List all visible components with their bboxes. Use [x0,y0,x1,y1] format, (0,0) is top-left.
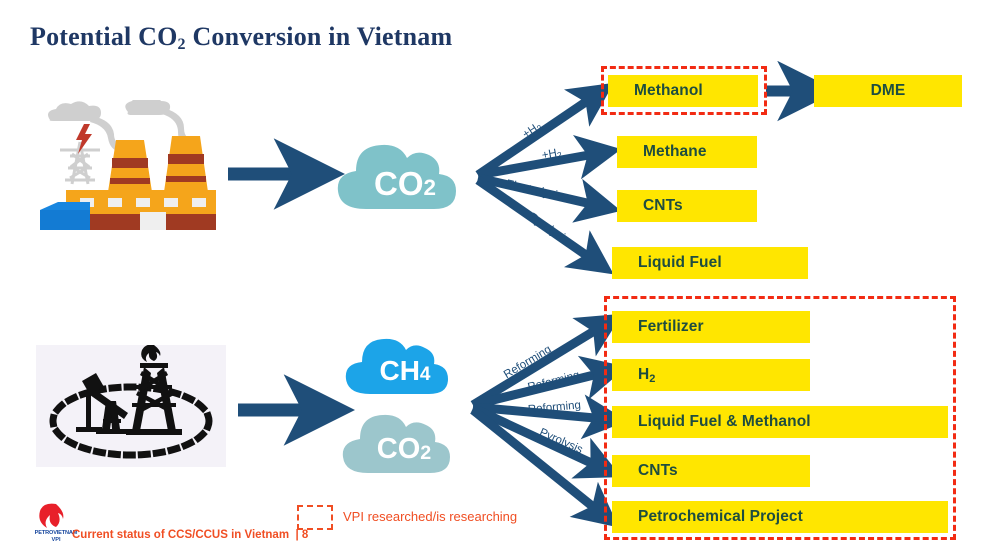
product-box-methane[interactable]: Methane [617,136,757,168]
footer-separator: | [295,529,298,541]
arrow-label-electrolysis-text: Electrolysis [505,178,564,203]
product-box-methanol[interactable]: Methanol [608,75,758,107]
product-box-dme-label: DME [871,82,906,100]
product-box-cnts-bottom[interactable]: CNTs [612,455,810,487]
co2-label-text: CO [374,165,424,203]
arrow-label-pyrolysis-bottom: Pyrolysis [538,427,585,457]
arrow-label-reforming-1: Reforming [502,344,554,382]
ch4-label-subscript: 4 [420,364,431,386]
arrow-label-pyrolysis-bottom-text: Pyrolysis [538,427,585,457]
product-box-fertilizer[interactable]: Fertilizer [612,311,810,343]
arrow-label-h2-methane-sub: 2 [556,150,562,161]
arrow-label-reforming-3-text: Reforming [527,399,581,416]
arrow-co2-to-methanol [478,95,596,175]
arrow-label-electrolysis: Electrolysis [505,178,564,203]
arrow-gas-to-petrochemical [473,410,602,514]
product-box-h2-label: H2 [638,366,656,384]
arrow-label-pyrolysis-top-text: Pyrolysis [527,211,572,247]
product-box-methane-label: Methane [643,143,707,161]
legend-swatch [297,505,333,530]
product-box-petrochemical[interactable]: Petrochemical Project [612,501,948,533]
page-title-suffix: Conversion in Vietnam [186,22,453,51]
slide-canvas: Potential CO2 Conversion in Vietnam [0,0,993,559]
arrow-co2-to-methane [478,153,600,175]
footer-caption-text: Current status of CCS/CCUS in Vietnam [72,529,289,541]
page-title: Potential CO2 Conversion in Vietnam [30,22,452,52]
arrow-gas-to-fertilizer [473,325,604,405]
product-box-fertilizer-label: Fertilizer [638,318,704,336]
arrow-gas-to-cnts [473,408,602,468]
product-box-liquid-fuel-methanol[interactable]: Liquid Fuel & Methanol [612,406,948,438]
arrow-label-h2-methanol: +H2 [521,120,544,141]
arrow-label-reforming-2: Reforming [527,369,581,393]
power-plant-illustration [32,100,224,230]
arrow-label-h2-methane: +H2 [541,147,563,162]
page-title-prefix: Potential CO [30,22,178,51]
product-box-cnts-top-label: CNTs [643,197,683,215]
co2-cloud-bottom: CO2 [336,405,472,481]
product-box-h2[interactable]: H2 [612,359,810,391]
product-box-h2-sub: 2 [649,373,655,385]
co2-bottom-label-text: CO [377,433,421,466]
ch4-label-text: CH [379,355,419,387]
arrow-label-pyrolysis-top: Pyrolysis [527,211,572,247]
arrow-label-reforming-1-text: Reforming [502,344,554,382]
product-box-h2-text: H [638,366,649,383]
co2-label-subscript: 2 [424,175,436,201]
product-box-cnts-top[interactable]: CNTs [617,190,757,222]
ch4-cloud-label: CH4 [340,330,470,407]
ch4-cloud: CH4 [340,330,470,402]
co2-bottom-label-subscript: 2 [420,442,431,465]
co2-cloud-top: CO2 [330,133,480,218]
product-box-liquid-fuel-methanol-label: Liquid Fuel & Methanol [638,413,811,431]
co2-cloud-bottom-label: CO2 [336,405,472,487]
product-box-dme[interactable]: DME [814,75,962,107]
legend-label: VPI researched/is researching [343,509,517,524]
oil-rig-illustration [36,345,226,467]
product-box-liquid-fuel[interactable]: Liquid Fuel [612,247,808,279]
page-title-subscript: 2 [178,36,186,53]
co2-cloud-top-label: CO2 [330,133,480,226]
arrow-label-reforming-3: Reforming [527,399,581,416]
arrow-label-reforming-2-text: Reforming [527,369,581,393]
product-box-liquid-fuel-label: Liquid Fuel [638,254,722,272]
product-box-methanol-label: Methanol [634,82,703,100]
footer-page-number: 8 [302,529,308,541]
product-box-cnts-bottom-label: CNTs [638,462,678,480]
footer-caption: Current status of CCS/CCUS in Vietnam | … [72,529,308,541]
product-box-petrochemical-label: Petrochemical Project [638,508,803,526]
